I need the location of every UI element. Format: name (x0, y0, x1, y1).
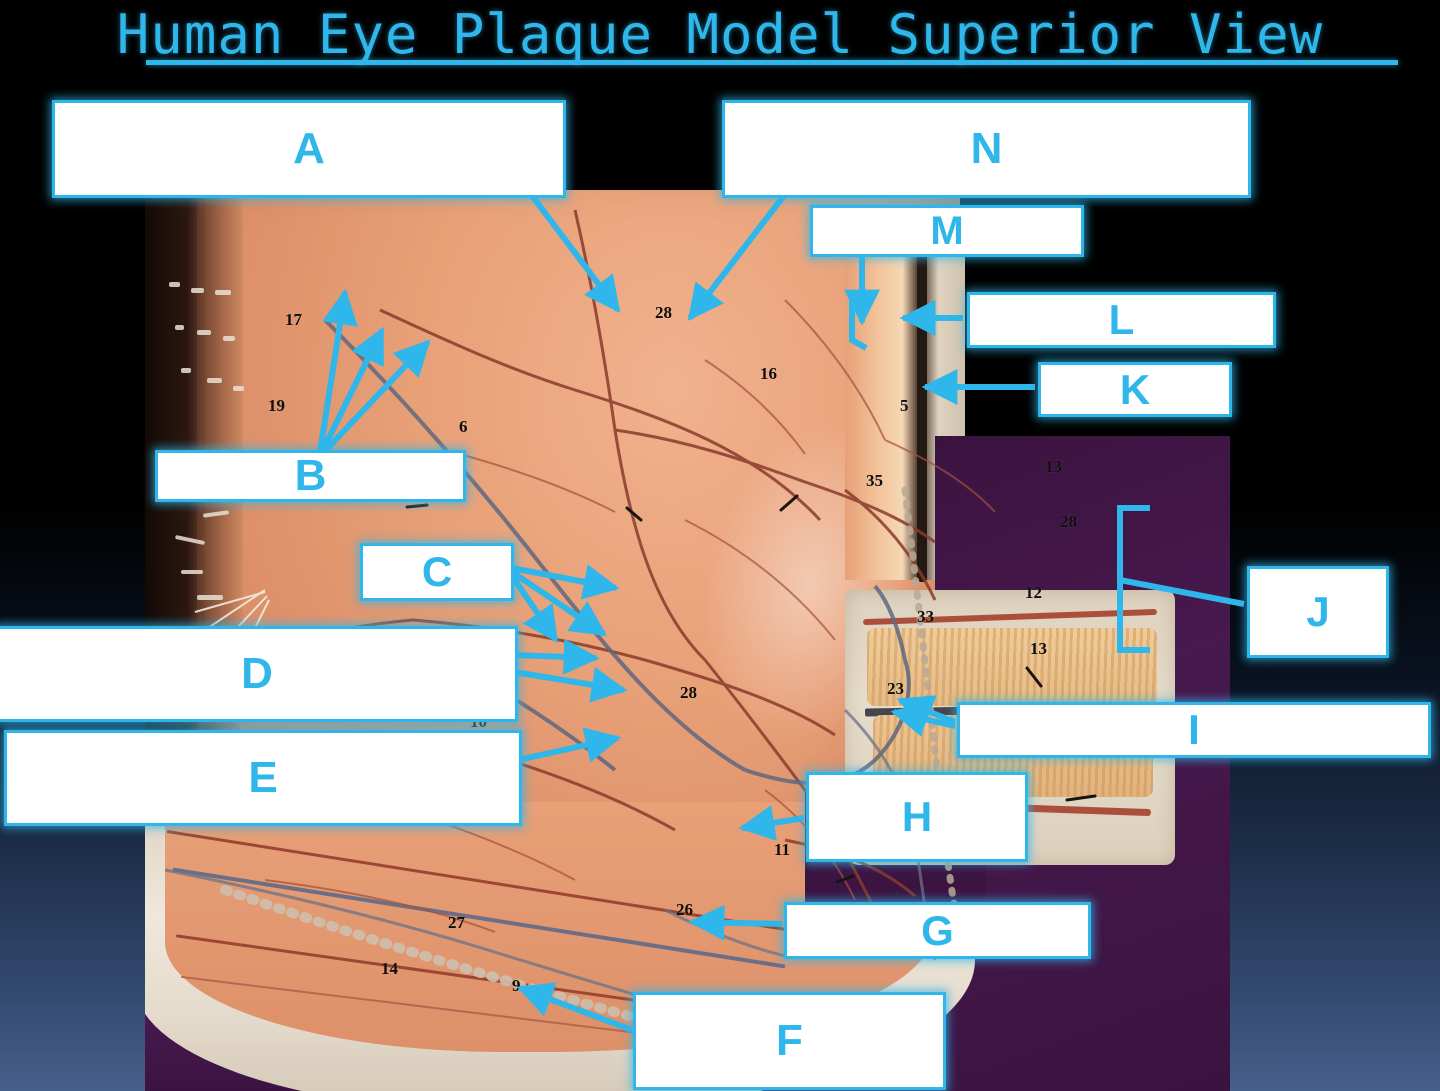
page-title: Human Eye Plaque Model Superior View (0, 4, 1440, 66)
callout-box-h[interactable]: H (806, 772, 1028, 862)
slide-canvas: Human Eye Plaque Model Superior View (0, 0, 1440, 1091)
model-number-label: 14 (381, 959, 398, 979)
title-underline (146, 60, 1398, 65)
model-number-label: 33 (917, 607, 934, 627)
callout-box-g[interactable]: G (784, 902, 1091, 959)
callout-box-e[interactable]: E (4, 730, 522, 826)
callout-label: E (248, 756, 277, 800)
callout-label: G (921, 910, 954, 952)
model-number-label: 12 (1025, 583, 1042, 603)
callout-label: B (295, 454, 327, 498)
callout-box-i[interactable]: I (957, 702, 1431, 758)
model-number-label: 28 (655, 303, 672, 323)
callout-box-d[interactable]: D (0, 626, 518, 722)
model-number-label: 13 (1030, 639, 1047, 659)
callout-label: M (930, 211, 963, 251)
callout-label: N (971, 127, 1003, 171)
model-number-label: 19 (268, 396, 285, 416)
callout-label: I (1188, 709, 1200, 751)
callout-box-c[interactable]: C (360, 543, 514, 601)
callout-box-f[interactable]: F (633, 992, 946, 1090)
callout-label: H (902, 796, 932, 838)
model-number-label: 13 (1045, 457, 1062, 477)
callout-label: L (1109, 299, 1135, 341)
model-number-label: 28 (1060, 512, 1077, 532)
callout-label: A (293, 127, 325, 171)
model-number-label: 6 (459, 417, 468, 437)
callout-box-a[interactable]: A (52, 100, 566, 198)
callout-label: F (776, 1019, 803, 1063)
callout-box-j[interactable]: J (1247, 566, 1389, 658)
model-number-label: 11 (774, 840, 790, 860)
callout-label: K (1120, 369, 1150, 411)
callout-box-l[interactable]: L (967, 292, 1276, 348)
model-number-label: 35 (866, 471, 883, 491)
model-number-label: 26 (676, 900, 693, 920)
model-number-label: 23 (887, 679, 904, 699)
callout-box-m[interactable]: M (810, 205, 1084, 257)
model-number-label: 17 (285, 310, 302, 330)
callout-label: J (1306, 591, 1329, 633)
model-number-label: 16 (760, 364, 777, 384)
callout-box-b[interactable]: B (155, 450, 466, 502)
model-number-label: 27 (448, 913, 465, 933)
callout-label: D (241, 652, 273, 696)
model-number-label: 9 (512, 976, 521, 996)
model-number-label: 28 (680, 683, 697, 703)
callout-box-k[interactable]: K (1038, 362, 1232, 417)
model-number-label: 5 (900, 396, 909, 416)
callout-box-n[interactable]: N (722, 100, 1251, 198)
callout-label: C (422, 551, 452, 593)
